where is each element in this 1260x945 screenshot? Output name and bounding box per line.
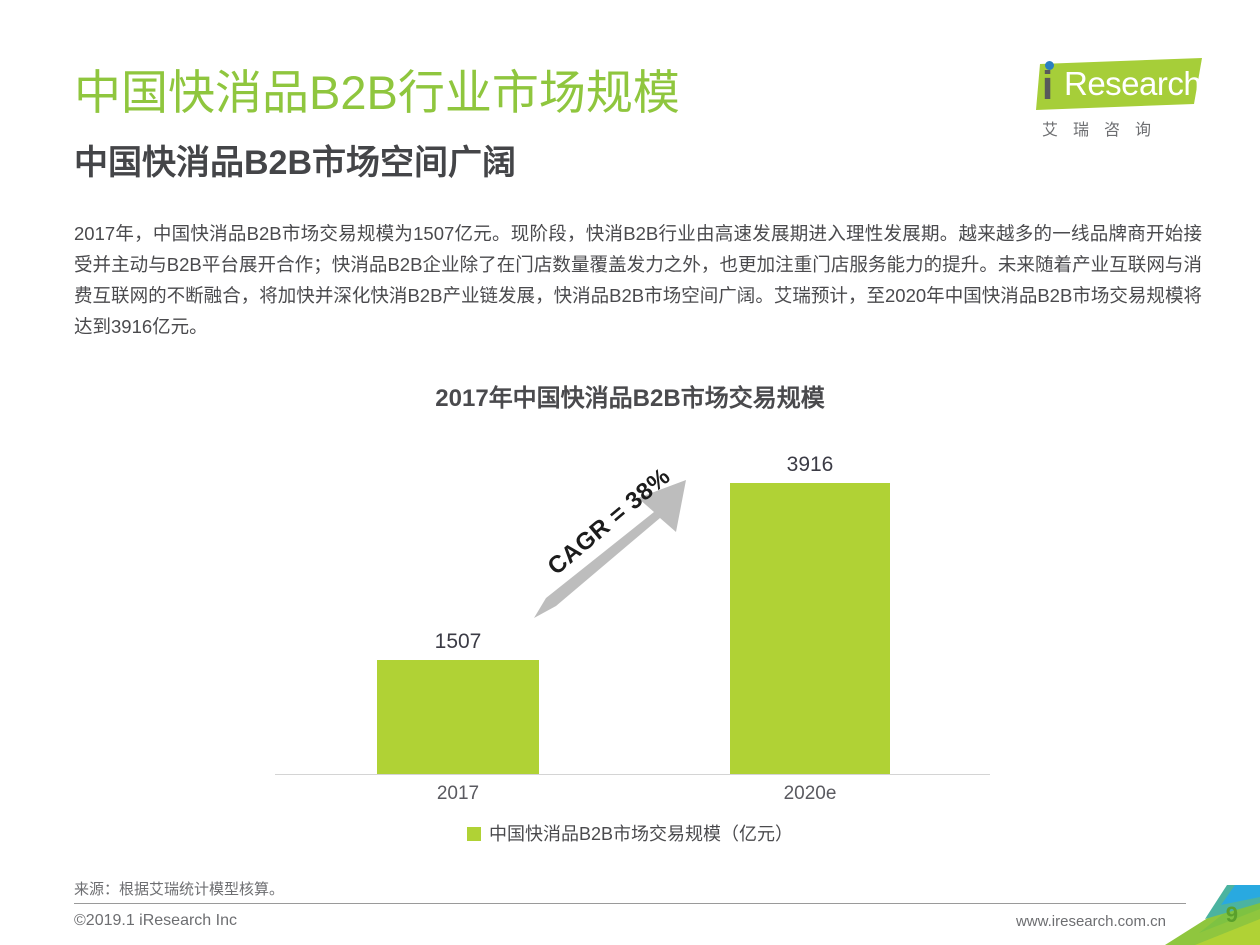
bar-value-2017: 1507 bbox=[377, 630, 539, 654]
footer-corner-decoration bbox=[1165, 885, 1260, 945]
bar-2020e bbox=[730, 483, 890, 774]
growth-arrow-icon bbox=[526, 470, 696, 620]
footer-divider bbox=[74, 903, 1186, 904]
footer-website[interactable]: www.iresearch.com.cn bbox=[1016, 913, 1166, 930]
page-title: 中国快消品B2B行业市场规模 bbox=[74, 66, 680, 120]
bar-2017 bbox=[377, 660, 539, 774]
chart-legend: 中国快消品B2B市场交易规模（亿元） bbox=[0, 820, 1260, 846]
legend-swatch-icon bbox=[467, 827, 481, 841]
body-paragraph: 2017年，中国快消品B2B市场交易规模为1507亿元。现阶段，快消B2B行业由… bbox=[74, 218, 1202, 342]
source-note: 来源：根据艾瑞统计模型核算。 bbox=[74, 878, 284, 899]
logo-dot-icon bbox=[1045, 61, 1054, 70]
bar-value-2020e: 3916 bbox=[730, 453, 890, 477]
legend-label: 中国快消品B2B市场交易规模（亿元） bbox=[489, 824, 793, 844]
chart-title: 2017年中国快消品B2B市场交易规模 bbox=[0, 378, 1260, 413]
x-tick-2020e: 2020e bbox=[730, 783, 890, 805]
page-subtitle: 中国快消品B2B市场空间广阔 bbox=[74, 143, 516, 184]
logo-letter-i: i bbox=[1042, 66, 1053, 106]
cagr-annotation: CAGR = 38% bbox=[526, 470, 696, 620]
x-axis-line bbox=[275, 774, 990, 775]
x-tick-2017: 2017 bbox=[377, 783, 539, 805]
footer-copyright: ©2019.1 iResearch Inc bbox=[74, 912, 237, 930]
logo-chinese-name: 艾瑞咨询 bbox=[1042, 116, 1166, 140]
iresearch-logo: i Research 艾瑞咨询 bbox=[1022, 58, 1202, 148]
logo-wordmark: Research bbox=[1064, 67, 1201, 100]
page-number: 9 bbox=[1226, 902, 1238, 928]
